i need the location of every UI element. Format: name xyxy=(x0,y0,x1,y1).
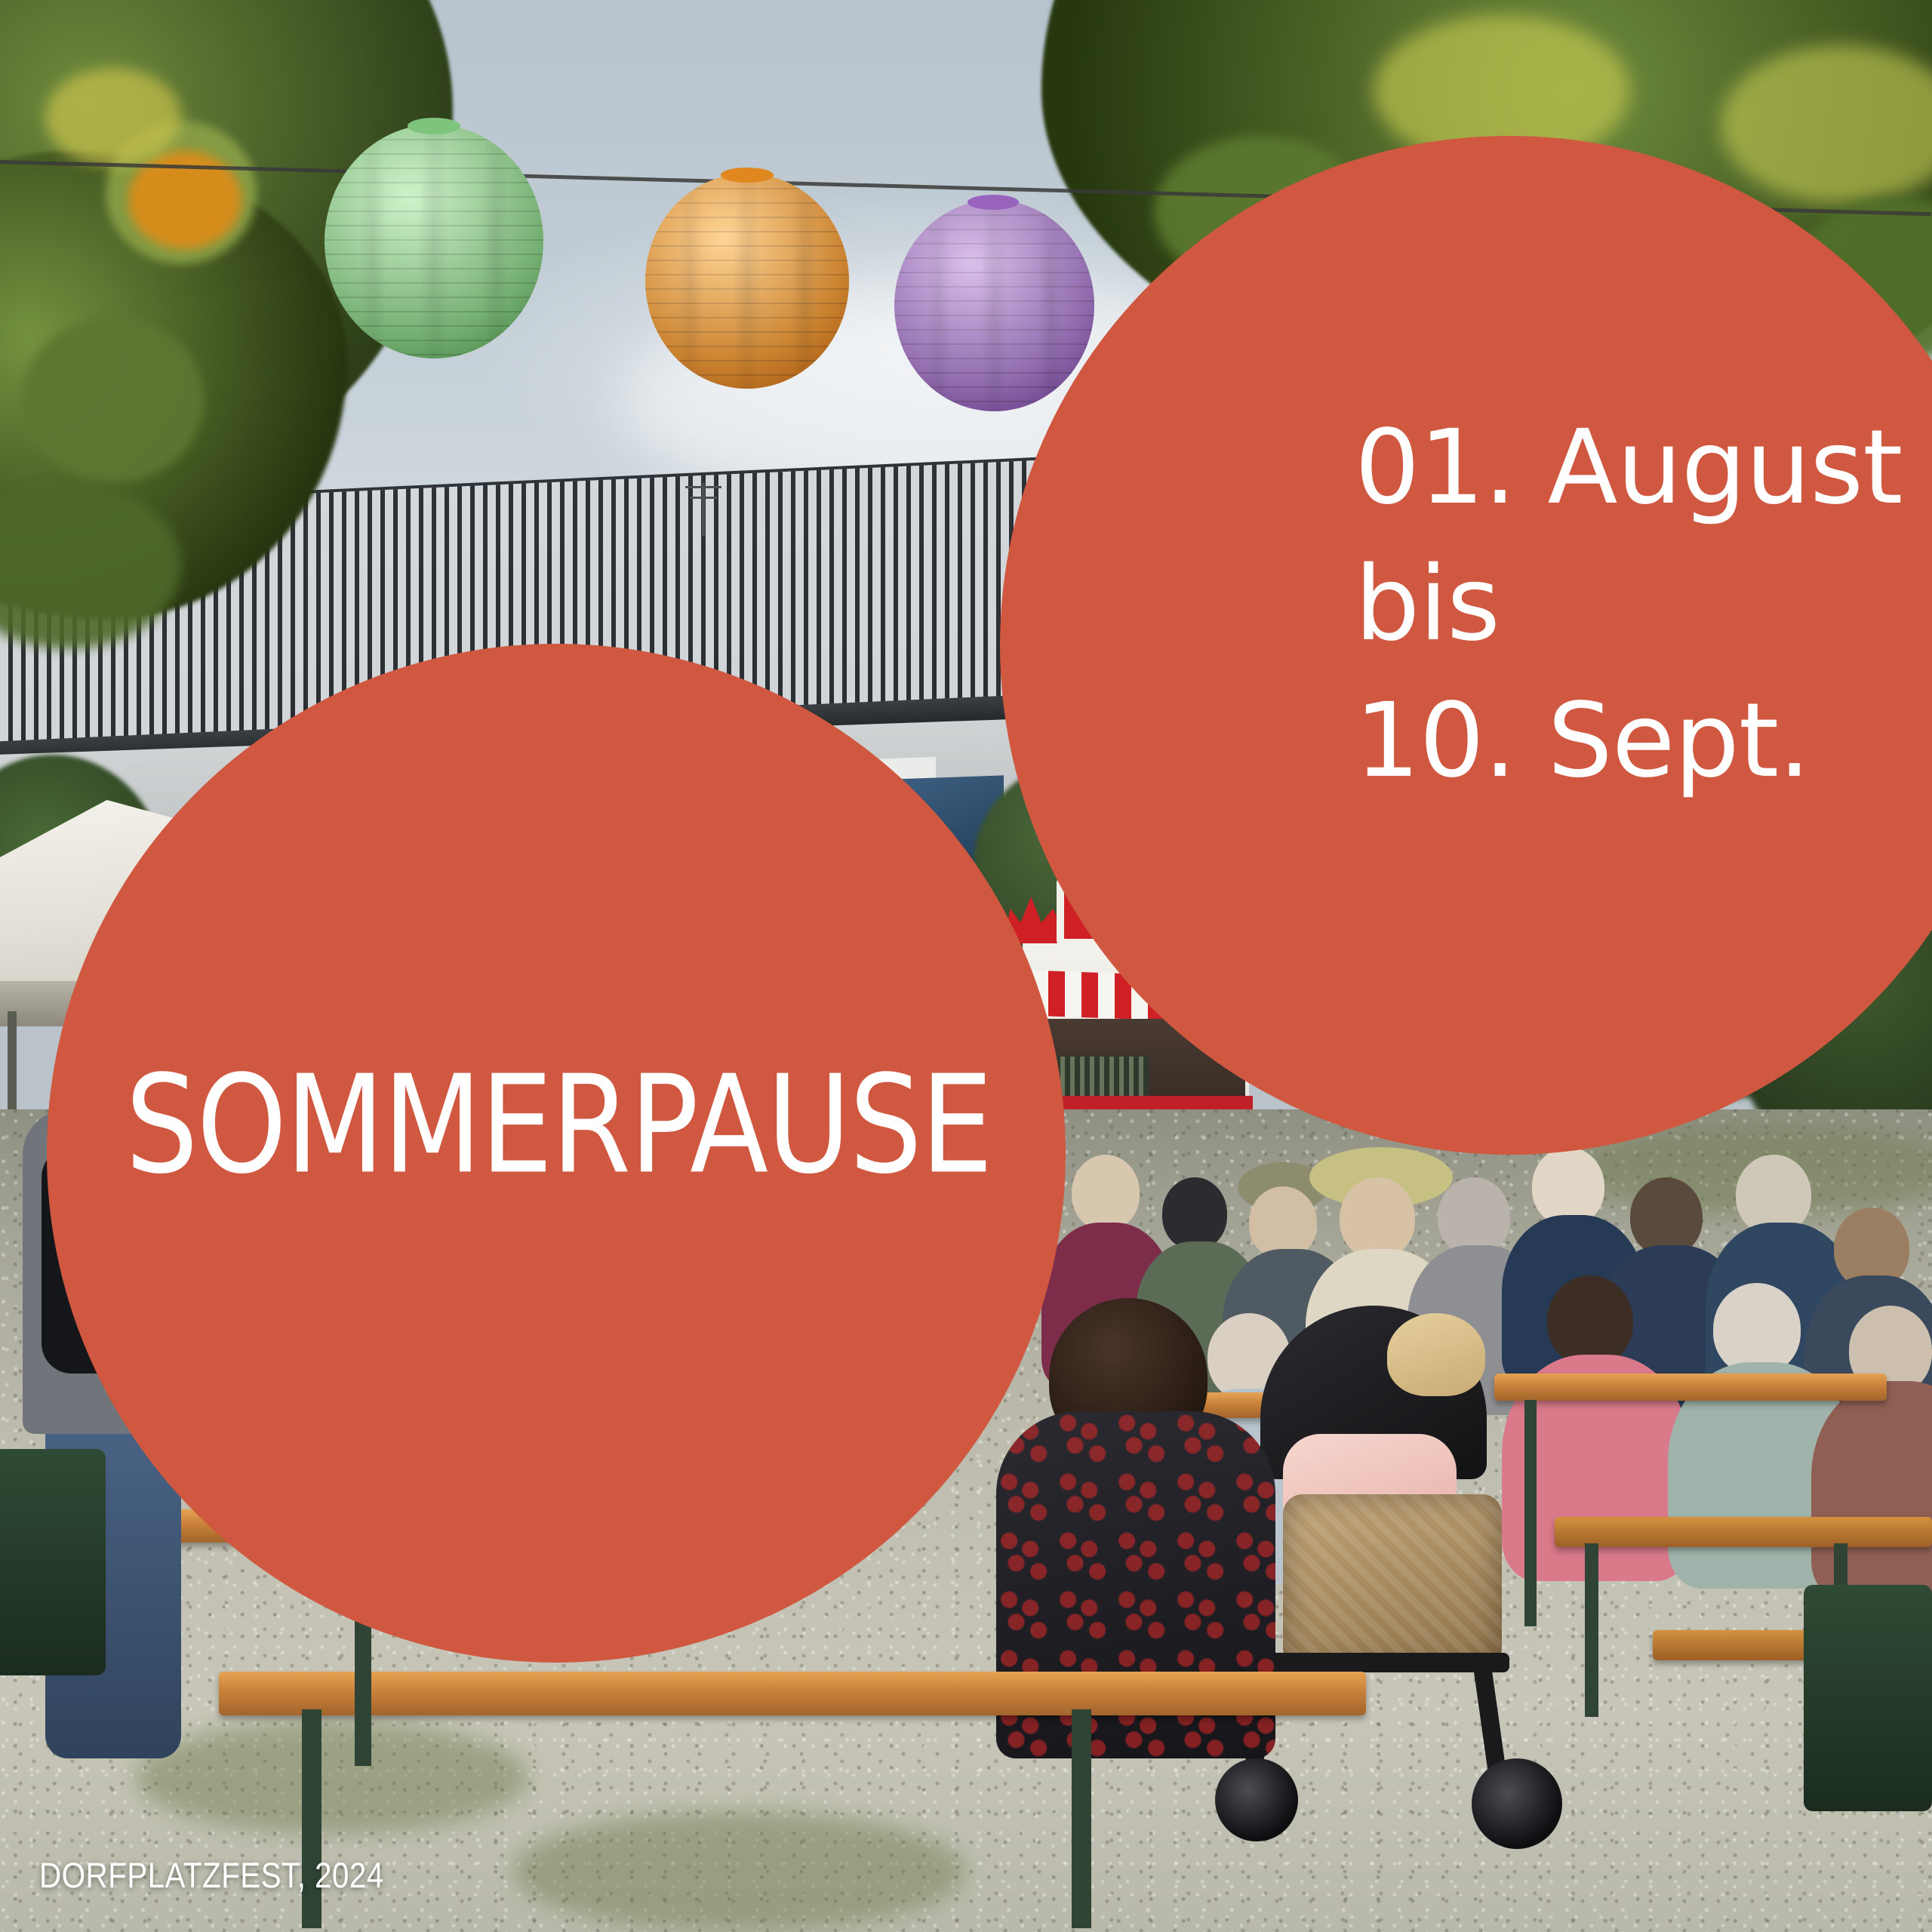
head xyxy=(1340,1177,1415,1259)
head xyxy=(1249,1186,1317,1259)
head xyxy=(1713,1283,1801,1375)
lantern-shading xyxy=(325,125,543,358)
page-title: SOMMERPAUSE xyxy=(68,1057,1049,1192)
grass-patch-1 xyxy=(136,1721,528,1834)
flower-cluster-yellow xyxy=(45,68,181,166)
lantern-shading xyxy=(894,200,1094,411)
trash-bin xyxy=(0,1449,106,1675)
head xyxy=(1547,1275,1633,1366)
bench-leg-foreground xyxy=(1072,1709,1091,1928)
green-lantern-cap xyxy=(408,118,460,134)
table-leg xyxy=(1524,1400,1537,1626)
head xyxy=(1072,1155,1140,1230)
stroller-wheel xyxy=(1215,1758,1298,1841)
head xyxy=(1438,1177,1510,1256)
stroller-wheel xyxy=(1472,1758,1562,1849)
lantern-shading xyxy=(645,174,849,389)
head xyxy=(1630,1177,1703,1256)
dates-text: 01. August bis 10. Sept. xyxy=(1355,400,1902,810)
stroller-frame xyxy=(1253,1653,1509,1672)
head xyxy=(1532,1147,1604,1226)
bench-top-foreground xyxy=(219,1672,1366,1715)
trash-bin xyxy=(1804,1585,1932,1811)
grass-patch-2 xyxy=(513,1811,966,1932)
poster-root: S xyxy=(0,0,1932,1932)
orange-lantern xyxy=(645,174,849,389)
stroller-bag xyxy=(1283,1494,1502,1668)
bench-leg xyxy=(1585,1543,1598,1717)
roof-antenna xyxy=(702,483,705,536)
head xyxy=(1162,1177,1227,1250)
body xyxy=(1811,1381,1932,1600)
table-top xyxy=(1494,1374,1887,1401)
purple-lantern xyxy=(894,200,1094,411)
leaf-cluster xyxy=(23,317,204,483)
purple-lantern-cap xyxy=(968,195,1019,210)
green-lantern xyxy=(325,125,543,358)
orange-lantern-cap xyxy=(721,168,774,183)
photo-caption: DORFPLATZFEST, 2024 xyxy=(39,1854,384,1896)
teddy-bear-toy xyxy=(1387,1313,1485,1396)
title-circle: SOMMERPAUSE xyxy=(47,644,1066,1663)
bench-top xyxy=(1555,1517,1932,1547)
